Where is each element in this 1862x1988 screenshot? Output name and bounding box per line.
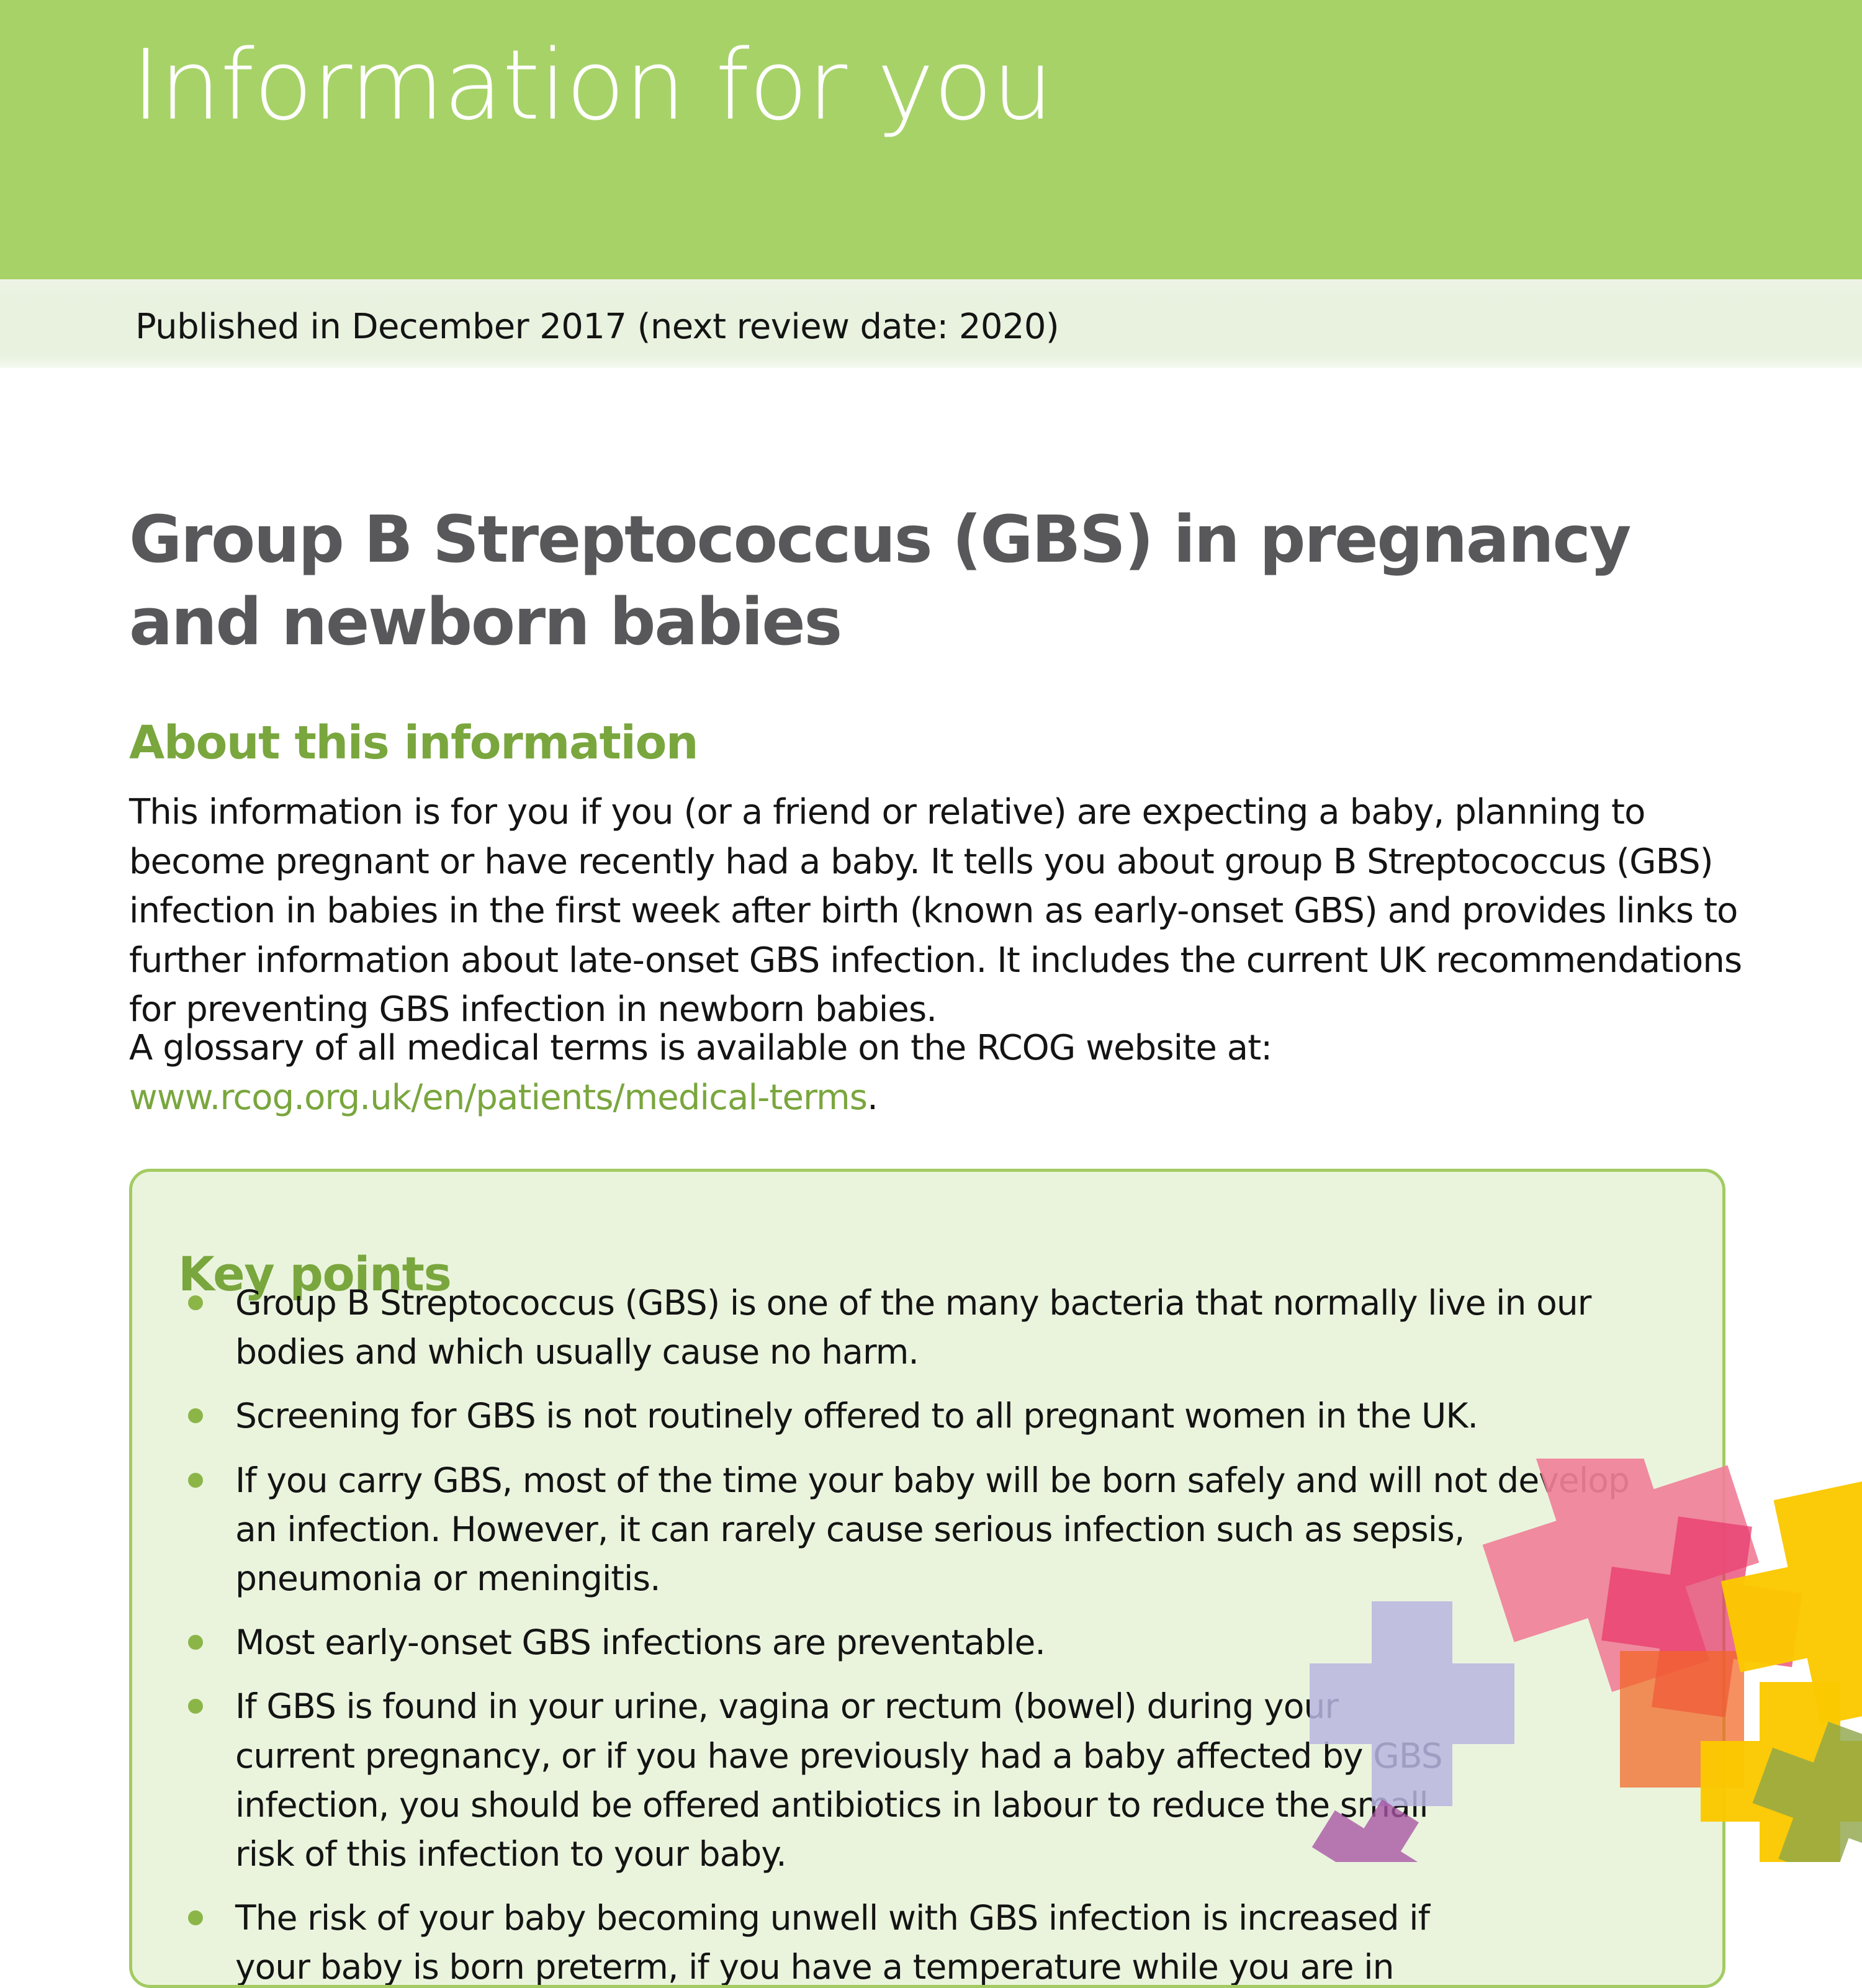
bullet-icon bbox=[188, 1408, 203, 1423]
list-item: Group B Streptococcus (GBS) is one of th… bbox=[177, 1279, 1685, 1377]
glossary-paragraph: A glossary of all medical terms is avail… bbox=[129, 1023, 1755, 1122]
about-paragraph: This information is for you if you (or a… bbox=[129, 788, 1755, 1035]
page-title: Group B Streptococcus (GBS) in pregnancy… bbox=[129, 498, 1737, 663]
published-date-text: Published in December 2017 (next review … bbox=[135, 307, 1059, 347]
olive-cross-icon bbox=[1738, 1707, 1862, 1862]
glossary-suffix-text: . bbox=[867, 1077, 878, 1118]
key-point-text: If GBS is found in your urine, vagina or… bbox=[235, 1682, 1458, 1879]
bullet-icon bbox=[188, 1635, 203, 1650]
page-header-banner: Information for you bbox=[0, 0, 1862, 279]
bullet-icon bbox=[188, 1699, 203, 1714]
glossary-prefix-text: A glossary of all medical terms is avail… bbox=[129, 1028, 1272, 1068]
bullet-icon bbox=[188, 1295, 203, 1310]
list-item: The risk of your baby becoming unwell wi… bbox=[177, 1894, 1685, 1988]
banner-title: Information for you bbox=[132, 32, 1053, 139]
published-band: Published in December 2017 (next review … bbox=[0, 279, 1862, 368]
rcog-glossary-link[interactable]: www.rcog.org.uk/en/patients/medical-term… bbox=[129, 1077, 867, 1118]
bullet-icon bbox=[188, 1910, 203, 1925]
key-point-text: Group B Streptococcus (GBS) is one of th… bbox=[235, 1279, 1657, 1377]
key-point-text: Screening for GBS is not routinely offer… bbox=[235, 1392, 1657, 1441]
list-item: If GBS is found in your urine, vagina or… bbox=[177, 1682, 1685, 1879]
bullet-icon bbox=[188, 1473, 203, 1488]
list-item: Most early-onset GBS infections are prev… bbox=[177, 1618, 1685, 1667]
key-point-text: Most early-onset GBS infections are prev… bbox=[235, 1618, 1657, 1667]
list-item: Screening for GBS is not routinely offer… bbox=[177, 1392, 1685, 1441]
key-points-box: Key points Group B Streptococcus (GBS) i… bbox=[129, 1169, 1725, 1988]
section-heading-about: About this information bbox=[129, 716, 698, 770]
key-point-text: The risk of your baby becoming unwell wi… bbox=[235, 1894, 1458, 1988]
yellow-cross-icon bbox=[1707, 1467, 1862, 1739]
key-point-text: If you carry GBS, most of the time your … bbox=[235, 1456, 1657, 1604]
key-points-list: Group B Streptococcus (GBS) is one of th… bbox=[177, 1279, 1685, 1988]
list-item: If you carry GBS, most of the time your … bbox=[177, 1456, 1685, 1604]
